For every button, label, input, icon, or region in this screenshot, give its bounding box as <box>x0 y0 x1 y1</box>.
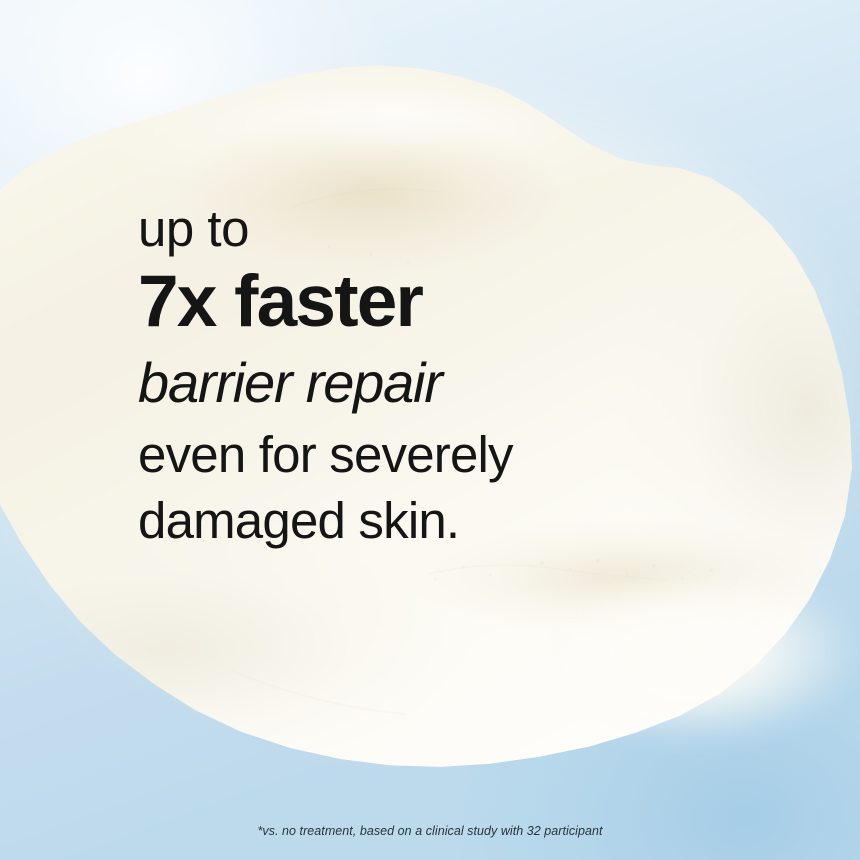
headline-emphasis: barrier repair <box>138 344 698 422</box>
headline-body-line-2: damaged skin. <box>138 488 698 554</box>
marketing-graphic-canvas: up to 7x faster barrier repair even for … <box>0 0 860 860</box>
footnote-disclaimer: *vs. no treatment, based on a clinical s… <box>0 824 860 838</box>
headline-hero: 7x faster <box>138 260 698 344</box>
headline-body-line-1: even for severely <box>138 422 698 488</box>
headline-block: up to 7x faster barrier repair even for … <box>138 196 698 554</box>
headline-eyebrow: up to <box>138 196 698 262</box>
